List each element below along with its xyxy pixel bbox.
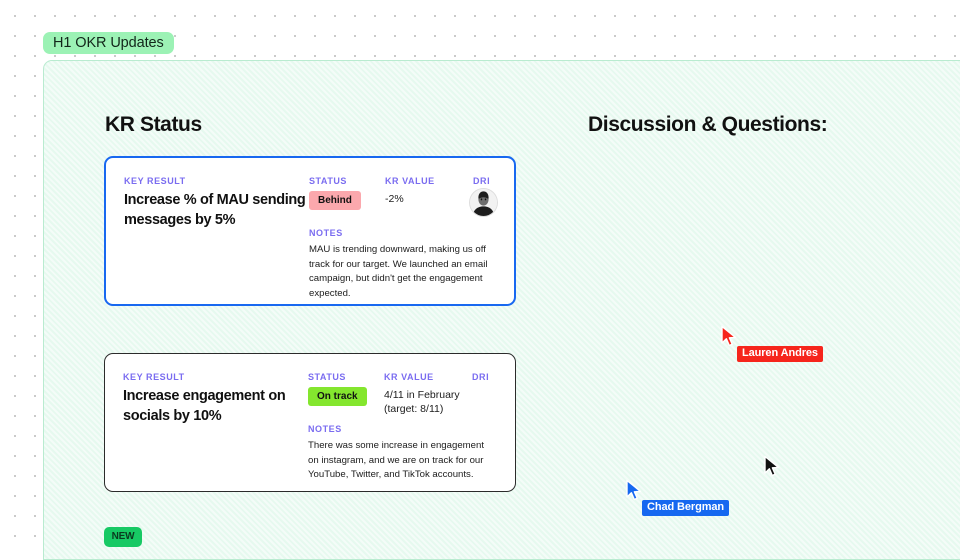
label-notes: NOTES xyxy=(308,424,342,434)
collaborator-name-tag-lauren-andres: Lauren Andres xyxy=(737,346,823,362)
label-dri: DRI xyxy=(472,372,489,382)
kr-card-2-title: Increase engagement on socials by 10% xyxy=(123,387,308,426)
cursor-arrow-icon xyxy=(763,455,781,479)
label-status: STATUS xyxy=(309,176,347,186)
label-dri: DRI xyxy=(473,176,490,186)
local-mouse-pointer xyxy=(763,455,781,484)
kr-card-2-status-badge[interactable]: On track xyxy=(308,387,367,406)
label-kr-value: KR VALUE xyxy=(385,176,435,186)
frame-title-chip[interactable]: H1 OKR Updates xyxy=(43,32,174,54)
kr-card-1[interactable]: KEY RESULT Increase % of MAU sending mes… xyxy=(104,156,516,306)
label-notes: NOTES xyxy=(309,228,343,238)
label-kr-value: KR VALUE xyxy=(384,372,434,382)
kr-card-1-title: Increase % of MAU sending messages by 5% xyxy=(124,191,309,230)
collaborator-cursor-chad-bergman: Chad Bergman xyxy=(625,479,645,503)
kr-card-1-status-badge[interactable]: Behind xyxy=(309,191,361,210)
label-key-result: KEY RESULT xyxy=(123,372,185,382)
discussion-questions-heading: Discussion & Questions: xyxy=(588,113,827,137)
kr-card-2-value: 4/11 in February (target: 8/11) xyxy=(384,388,469,416)
kr-card-2-notes: There was some increase in engagement on… xyxy=(308,439,496,483)
bottom-partial-chip[interactable]: NEW xyxy=(104,527,142,547)
label-key-result: KEY RESULT xyxy=(124,176,186,186)
label-status: STATUS xyxy=(308,372,346,382)
kr-status-heading: KR Status xyxy=(105,113,202,137)
collaborator-cursor-lauren-andres: Lauren Andres xyxy=(720,325,740,349)
kr-card-2[interactable]: KEY RESULT Increase engagement on social… xyxy=(104,353,516,492)
kr-card-1-notes: MAU is trending downward, making us off … xyxy=(309,243,497,301)
kr-card-1-value: -2% xyxy=(385,192,470,206)
collaborator-name-tag-chad-bergman: Chad Bergman xyxy=(642,500,729,516)
kr-card-1-dri-avatar[interactable] xyxy=(470,189,497,216)
bottom-partial-chip-label: NEW xyxy=(112,531,135,542)
frame-title-label: H1 OKR Updates xyxy=(53,35,164,51)
person-avatar-icon xyxy=(470,189,497,216)
frame-canvas[interactable]: KR Status Discussion & Questions: KEY RE… xyxy=(43,60,960,560)
